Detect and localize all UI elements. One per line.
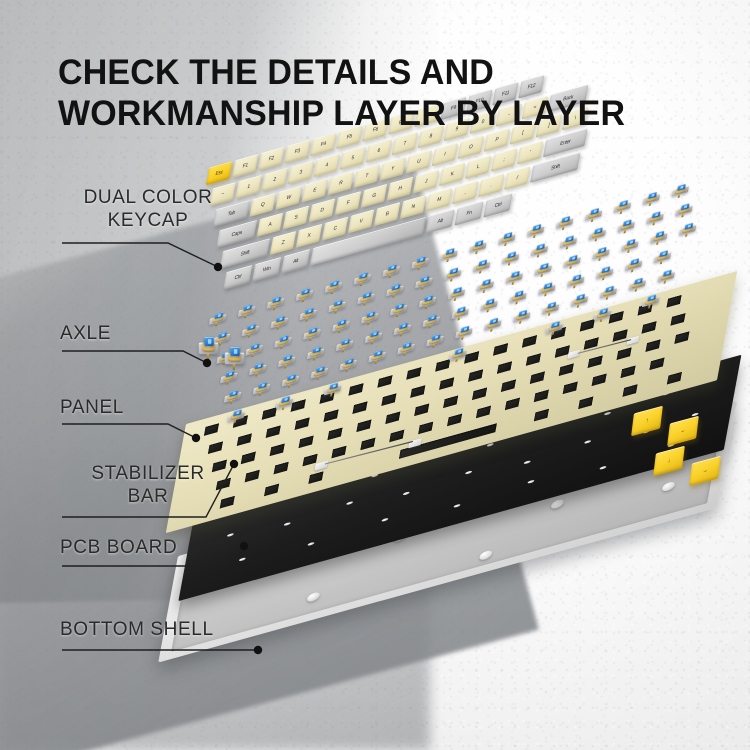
infographic-canvas: ↑ ← ↓ → EscF1F2F3F4F5F6F7F8F9F10F11F12 ~… <box>0 0 750 750</box>
background-vignette <box>0 0 750 750</box>
